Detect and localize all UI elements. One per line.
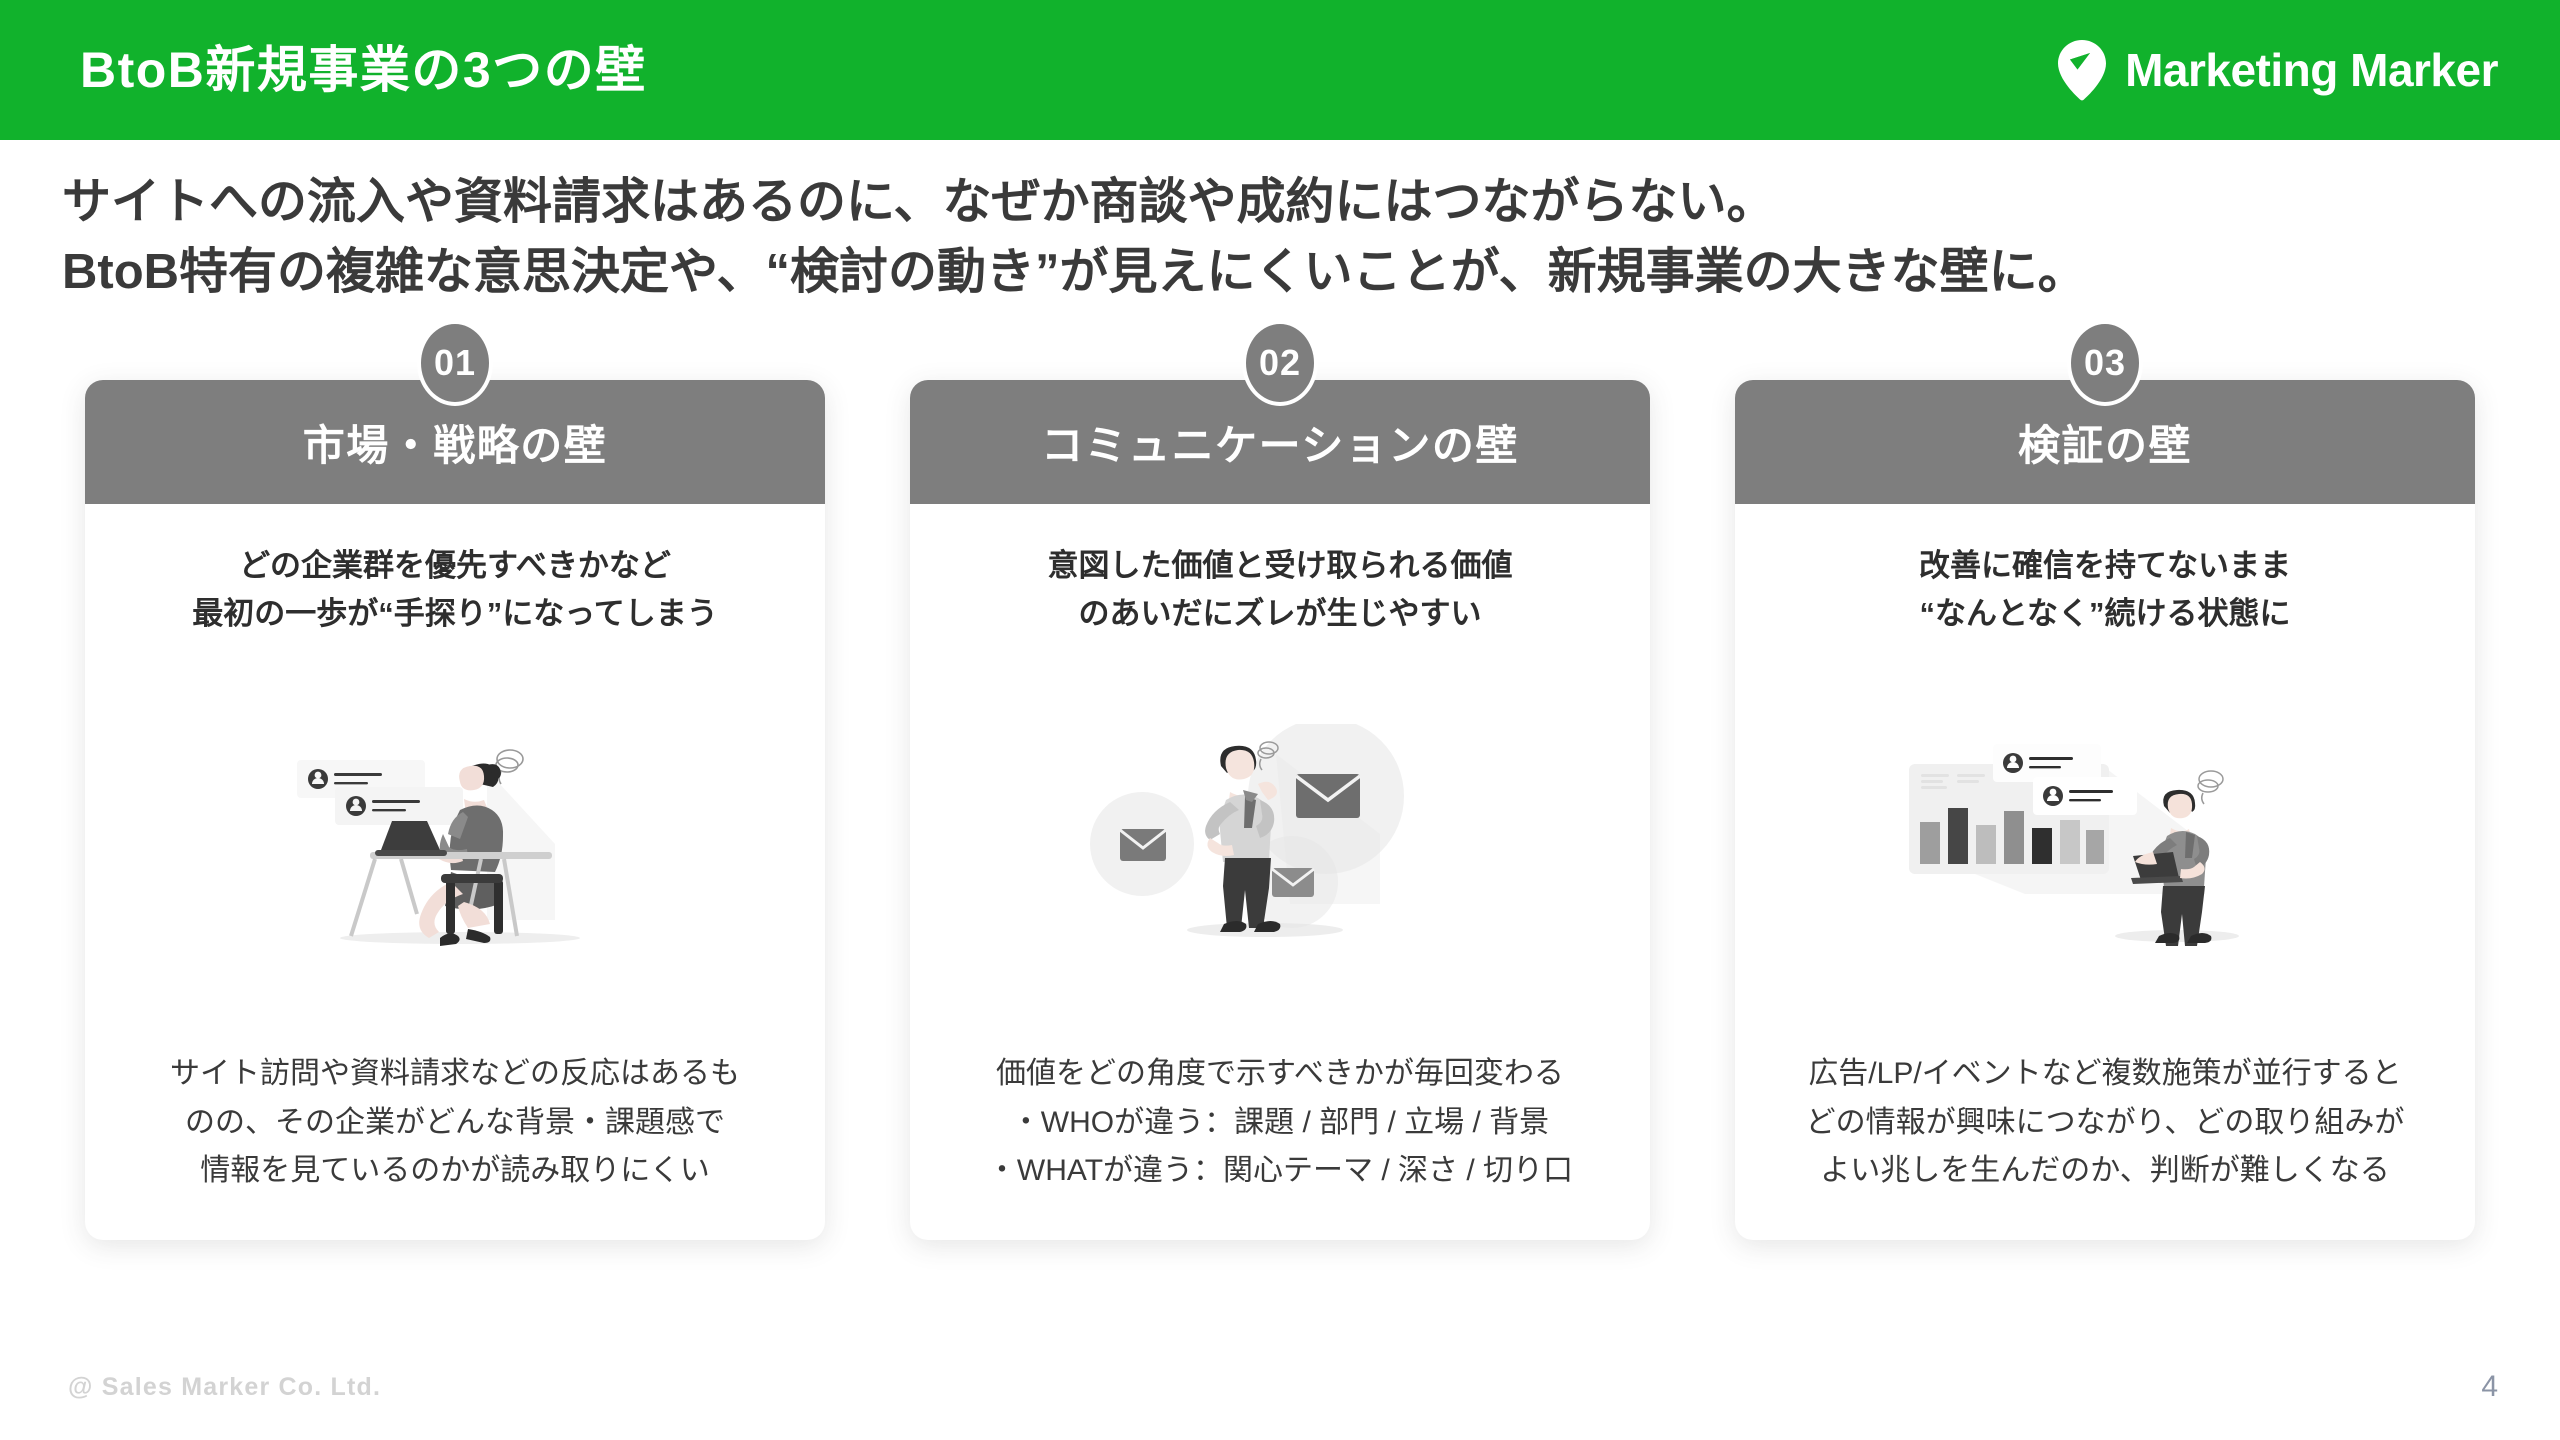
confused-man-with-email-icons-illustration — [910, 638, 1650, 1050]
card-number-badge-2: 02 — [1242, 320, 1318, 406]
card-lead-2-line-2: のあいだにズレが生じやすい — [1048, 590, 1513, 638]
card-body-3: 広告/LP/イベントなど複数施策が並行すると どの情報が興味につながり、どの取り… — [1762, 1050, 2449, 1240]
page-number: 4 — [2481, 1370, 2498, 1404]
slide-header: BtoB新規事業の3つの壁 Marketing Marker — [0, 0, 2560, 140]
card-body-3-line-1: 広告/LP/イベントなど複数施策が並行すると — [1806, 1050, 2405, 1099]
wall-card-3: 03 検証の壁 改善に確信を持てないまま “なんとなく”続ける状態に — [1735, 380, 2475, 1240]
brand-logo-text: Marketing Marker — [2125, 43, 2498, 97]
subtitle: サイトへの流入や資料請求はあるのに、なぜか商談や成約にはつながらない。 BtoB… — [62, 168, 2482, 307]
card-lead-3: 改善に確信を持てないまま “なんとなく”続ける状態に — [1893, 542, 2317, 638]
card-body-3-line-2: どの情報が興味につながり、どの取り組みが — [1806, 1099, 2405, 1148]
cards-row: 01 市場・戦略の壁 どの企業群を優先すべきかなど 最初の一歩が“手探り”になっ… — [0, 380, 2560, 1240]
card-body-2: 価値をどの角度で示すべきかが毎回変わる ・WHOが違う：課題 / 部門 / 立場… — [943, 1050, 1617, 1240]
card-number-badge-1: 01 — [417, 320, 493, 406]
card-body-1-line-1: サイト訪問や資料請求などの反応はあるも — [170, 1050, 740, 1099]
card-lead-3-line-2: “なんとなく”続ける状態に — [1919, 590, 2291, 638]
card-lead-1-line-1: どの企業群を優先すべきかなど — [192, 542, 717, 590]
subtitle-line-1: サイトへの流入や資料請求はあるのに、なぜか商談や成約にはつながらない。 — [62, 168, 2482, 238]
page-title: BtoB新規事業の3つの壁 — [80, 45, 647, 95]
brand-logo: Marketing Marker — [2053, 39, 2498, 101]
card-body-1: サイト訪問や資料請求などの反応はあるも のの、その企業がどんな背景・課題感で 情… — [126, 1050, 784, 1240]
card-lead-2-line-1: 意図した価値と受け取られる価値 — [1048, 542, 1513, 590]
card-lead-1-line-2: 最初の一歩が“手探り”になってしまう — [192, 590, 717, 638]
wall-card-2: 02 コミュニケーションの壁 意図した価値と受け取られる価値 のあいだにズレが生… — [910, 380, 1650, 1240]
card-number-badge-3: 03 — [2067, 320, 2143, 406]
card-body-2-line-3: ・WHATが違う：関心テーマ / 深さ / 切り口 — [987, 1147, 1573, 1196]
card-body-2-line-1: 価値をどの角度で示すべきかが毎回変わる — [987, 1050, 1573, 1099]
slide-root: BtoB新規事業の3つの壁 Marketing Marker サイトへの流入や資… — [0, 0, 2560, 1440]
card-lead-2: 意図した価値と受け取られる価値 のあいだにズレが生じやすい — [1022, 542, 1539, 638]
card-body-3-line-3: よい兆しを生んだのか、判断が難しくなる — [1806, 1147, 2405, 1196]
card-body-1-line-2: のの、その企業がどんな背景・課題感で — [170, 1099, 740, 1148]
card-lead-1: どの企業群を優先すべきかなど 最初の一歩が“手探り”になってしまう — [166, 542, 743, 638]
card-body-1-line-3: 情報を見ているのかが読み取りにくい — [170, 1147, 740, 1196]
wall-card-1: 01 市場・戦略の壁 どの企業群を優先すべきかなど 最初の一歩が“手探り”になっ… — [85, 380, 825, 1240]
card-body-2-line-2: ・WHOが違う：課題 / 部門 / 立場 / 背景 — [987, 1099, 1573, 1148]
card-lead-3-line-1: 改善に確信を持てないまま — [1919, 542, 2291, 590]
subtitle-line-2: BtoB特有の複雑な意思決定や、“検討の動き”が見えにくいことが、新規事業の大き… — [62, 238, 2482, 308]
woman-at-desk-with-laptop-illustration — [85, 638, 825, 1050]
location-pin-check-icon — [2053, 39, 2111, 101]
man-with-laptop-and-bar-chart-illustration — [1735, 638, 2475, 1050]
footer-copyright: @ Sales Marker Co. Ltd. — [68, 1373, 381, 1402]
